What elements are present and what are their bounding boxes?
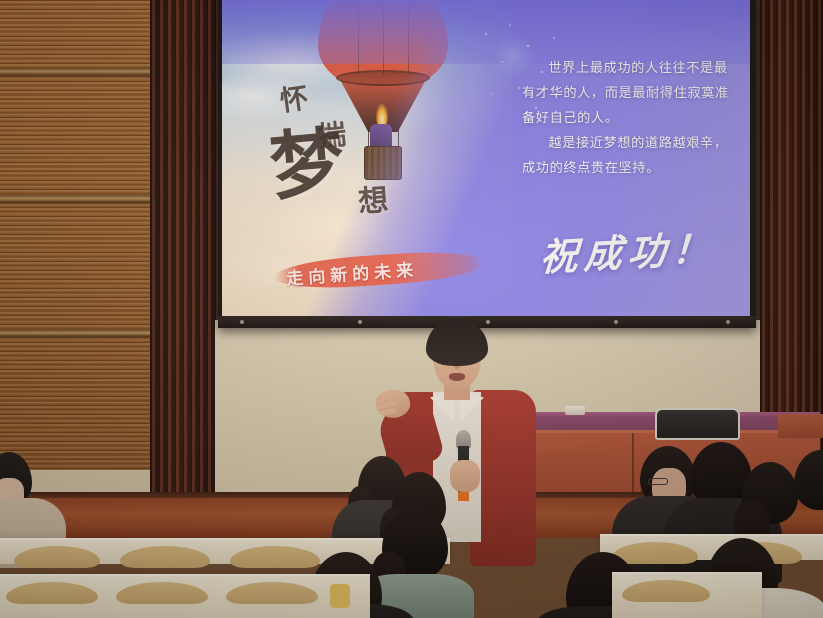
audience-bag — [330, 584, 350, 608]
slat-panel-seam — [0, 195, 152, 202]
desk-small-object — [565, 406, 585, 415]
speaker-microphone-hand — [450, 460, 480, 492]
stage-curtain-left — [150, 0, 222, 500]
slide-body-text: 世界上最成功的人往往不是最有才华的人，而是最耐得住寂寞准备好自己的人。 越是接近… — [522, 56, 740, 181]
presenter-chair-back — [655, 408, 740, 440]
slat-panel-seam — [0, 68, 152, 75]
microphone-orange-band — [458, 492, 469, 501]
mount-screw — [726, 320, 730, 324]
finger — [379, 408, 397, 416]
projection-screen-surface: 怀 揣 梦 想 走向新的未来 世界上最成功的人往往不是最有才华的人，而是最耐得住… — [222, 0, 750, 318]
eyeglasses-icon — [648, 478, 668, 485]
slide-calligraphy-char-big: 梦 — [267, 125, 348, 205]
slat-panel-seam — [0, 330, 152, 336]
mount-screw — [358, 320, 362, 324]
slide-paragraph-2: 越是接近梦想的道路越艰辛，成功的终点贵在坚持。 — [522, 131, 740, 181]
side-podium — [778, 414, 823, 438]
stage-curtain-right — [760, 0, 823, 470]
speaker-hair — [426, 318, 488, 366]
slide-paragraph-1: 世界上最成功的人往往不是最有才华的人，而是最耐得住寂寞准备好自己的人。 — [522, 56, 740, 131]
mount-screw — [240, 320, 244, 324]
slide-calligraphy-char-3: 想 — [357, 175, 391, 221]
mount-screw — [614, 320, 618, 324]
auditorium-photograph: 怀 揣 梦 想 走向新的未来 世界上最成功的人往往不是最有才华的人，而是最耐得住… — [0, 0, 823, 618]
speaker-mouth — [449, 373, 465, 381]
slide-calligraphy-char-1: 怀 — [277, 76, 311, 120]
slide-blessing-text: 祝成功！ — [539, 217, 718, 281]
